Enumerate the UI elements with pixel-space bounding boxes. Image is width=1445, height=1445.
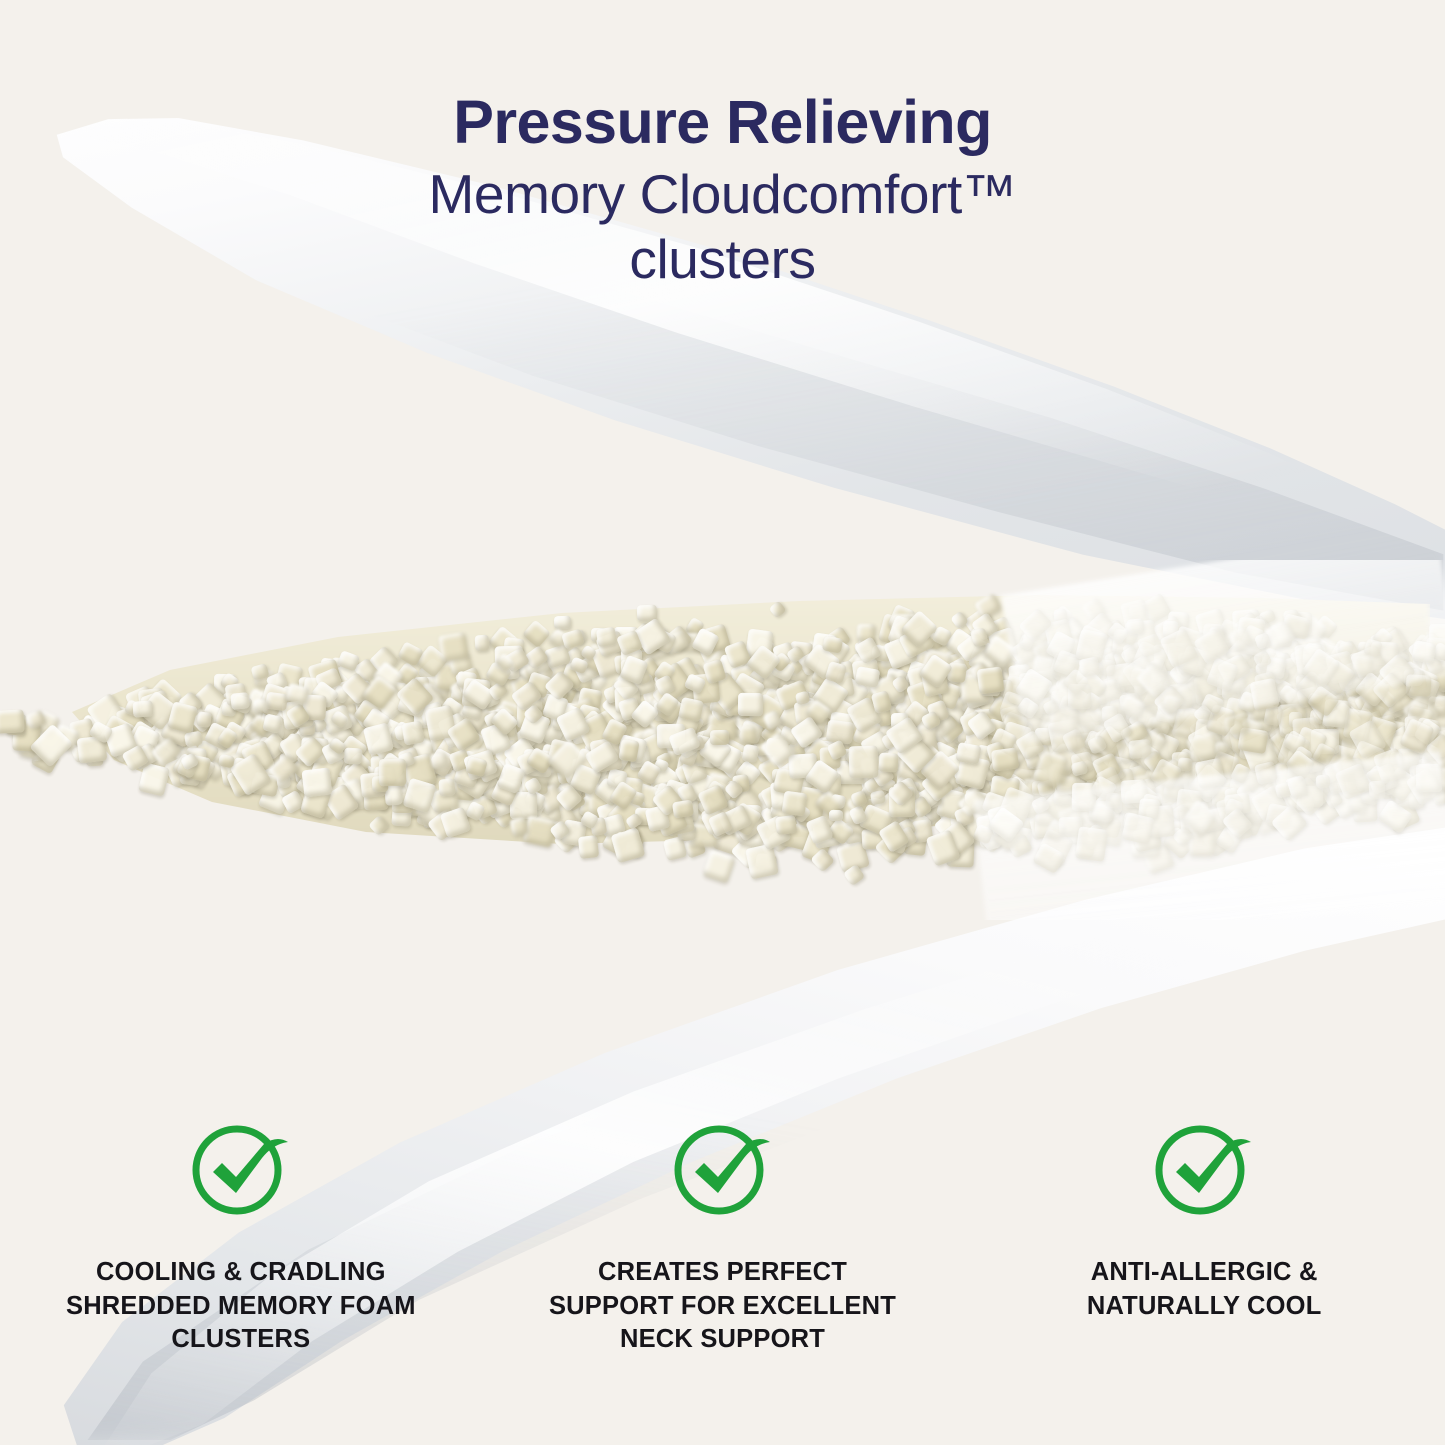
- feature-item-anti-allergic: ANTI-ALLERGIC & NATURALLY COOL: [963, 1118, 1445, 1357]
- foam-chunk: [878, 752, 898, 772]
- feature-item-support: CREATES PERFECT SUPPORT FOR EXCELLENT NE…: [482, 1118, 964, 1357]
- foam-chunk: [672, 800, 694, 819]
- foam-chunk: [618, 739, 639, 763]
- foam-chunk: [439, 779, 456, 797]
- foam-chunk: [0, 709, 24, 733]
- foam-chunk: [578, 835, 600, 859]
- foam-chunk: [262, 713, 282, 733]
- foam-chunk: [741, 744, 759, 764]
- foam-chunk: [302, 768, 333, 798]
- foam-chunk: [230, 692, 250, 709]
- foam-chunk: [438, 632, 469, 662]
- foam-chunk: [854, 666, 880, 688]
- headline-block: Pressure Relieving Memory Cloudcomfort™ …: [0, 0, 1445, 292]
- foam-chunk: [829, 810, 843, 821]
- foam-chunk: [775, 815, 798, 836]
- foam-chunk: [561, 629, 584, 650]
- foam-chunk: [596, 626, 618, 646]
- foam-chunk: [976, 666, 1004, 694]
- foam-chunk: [252, 699, 267, 713]
- foam-chunk: [402, 721, 425, 746]
- foam-chunk: [739, 725, 756, 743]
- feature-label: ANTI-ALLERGIC & NATURALLY COOL: [1039, 1256, 1369, 1323]
- foam-chunk: [132, 701, 153, 718]
- feature-label: COOLING & CRADLING SHREDDED MEMORY FOAM …: [26, 1256, 456, 1357]
- subtitle-line-1: Memory Cloudcomfort™: [429, 163, 1017, 225]
- foam-chunk: [738, 692, 764, 715]
- foam-chunk: [848, 745, 878, 778]
- foam-chunk: [710, 730, 729, 745]
- check-circle-icon: [1152, 1118, 1256, 1218]
- page-title: Pressure Relieving: [0, 0, 1445, 156]
- foam-chunk: [769, 600, 787, 618]
- foam-chunk: [1214, 742, 1228, 755]
- page-subtitle: Memory Cloudcomfort™ clusters: [0, 156, 1445, 292]
- foam-chunk: [368, 815, 389, 836]
- foam-chunk: [474, 635, 489, 652]
- subtitle-line-2: clusters: [0, 227, 1445, 292]
- foam-chunk: [1128, 739, 1151, 759]
- foam-chunk: [745, 844, 779, 881]
- foam-chunk: [379, 759, 406, 786]
- foam-chunk: [703, 849, 736, 883]
- foam-chunk: [265, 692, 289, 712]
- memory-foam-cluster-fill: [0, 560, 1445, 920]
- foam-chunk: [950, 611, 969, 630]
- feature-label: CREATES PERFECT SUPPORT FOR EXCELLENT NE…: [523, 1256, 923, 1357]
- foam-chunk: [554, 616, 571, 629]
- foam-chunk: [781, 791, 806, 817]
- foam-chunk: [662, 836, 687, 861]
- foam-chunk: [611, 827, 646, 863]
- feature-list: COOLING & CRADLING SHREDDED MEMORY FOAM …: [0, 1118, 1445, 1357]
- foam-chunk: [343, 747, 361, 764]
- feature-item-cooling: COOLING & CRADLING SHREDDED MEMORY FOAM …: [0, 1118, 482, 1357]
- foam-chunk: [196, 711, 211, 727]
- check-circle-icon: [189, 1118, 293, 1218]
- foam-chunk: [991, 747, 1020, 771]
- check-circle-icon: [671, 1118, 775, 1218]
- foam-chunk: [522, 619, 551, 648]
- foam-chunk: [184, 730, 203, 747]
- product-feature-graphic: Pressure Relieving Memory Cloudcomfort™ …: [0, 0, 1445, 1445]
